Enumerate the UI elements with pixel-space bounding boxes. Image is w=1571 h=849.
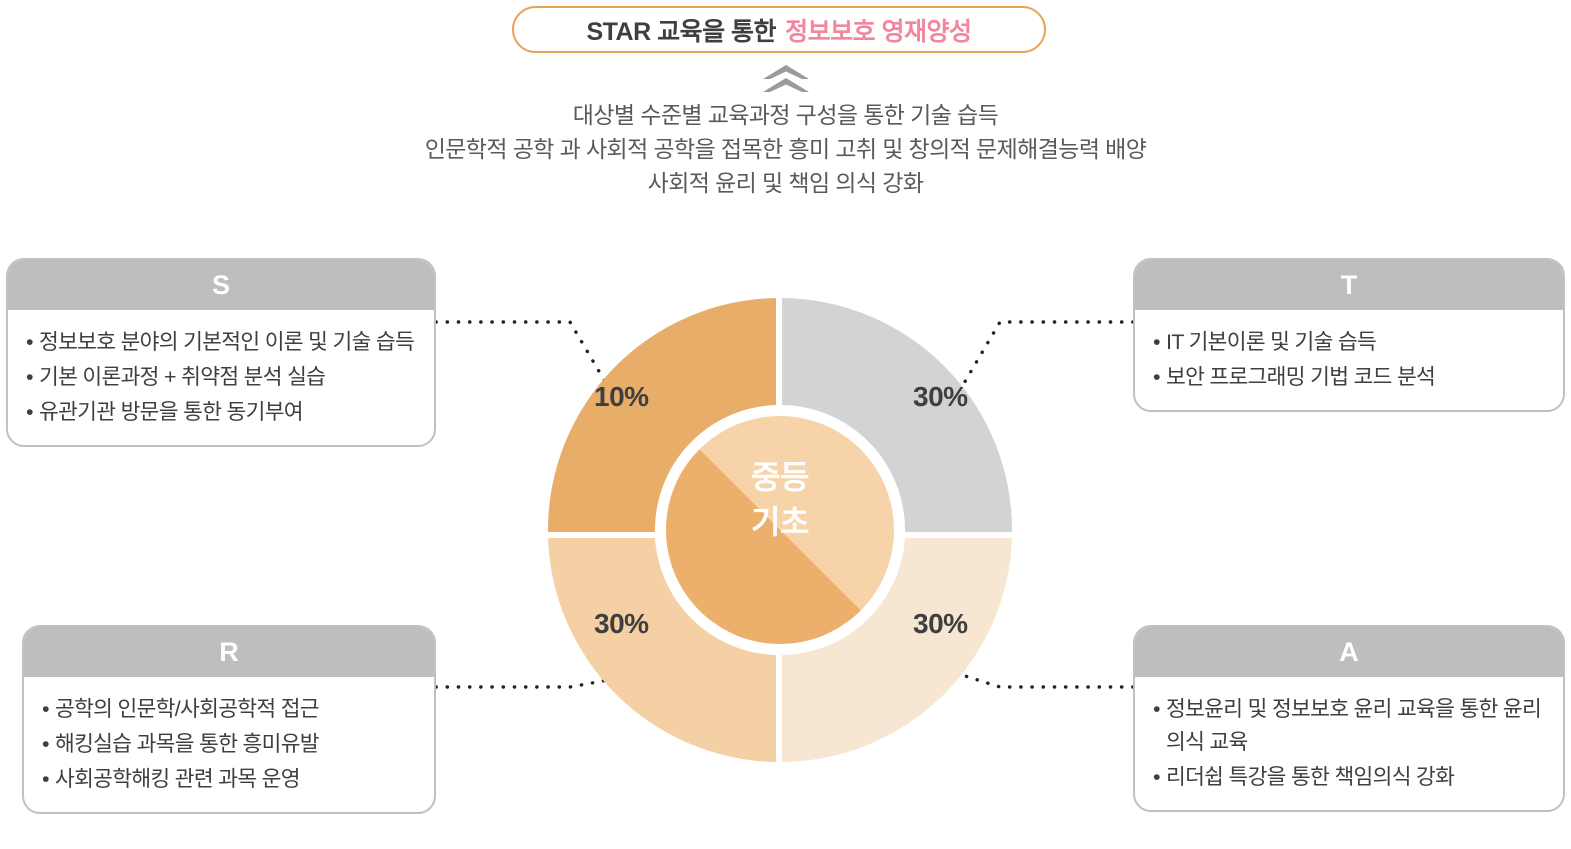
card-s-letter: S <box>212 270 230 301</box>
card-s[interactable]: S • 정보보호 분야의 기본적인 이론 및 기술 습득 • 기본 이론과정 +… <box>6 258 436 447</box>
bullet-icon: • <box>1153 761 1166 794</box>
subtitle-line-1: 대상별 수준별 교육과정 구성을 통한 기술 습득 <box>0 98 1571 132</box>
list-item: • IT 기본이론 및 기술 습득 <box>1153 326 1547 359</box>
list-item-text: IT 기본이론 및 기술 습득 <box>1166 326 1547 359</box>
list-item-text: 정보보호 분야의 기본적인 이론 및 기술 습득 <box>39 326 418 359</box>
card-r[interactable]: R • 공학의 인문학/사회공학적 접근 • 해킹실습 과목을 통한 흥미유발 … <box>22 625 436 814</box>
donut-label-s: 10% <box>594 381 649 413</box>
page-title-main: STAR 교육을 통한 <box>586 12 776 48</box>
double-chevron-up-icon <box>762 64 810 94</box>
card-r-header: R <box>24 627 434 677</box>
subtitle-line-3: 사회적 윤리 및 책임 의식 강화 <box>0 166 1571 200</box>
list-item-text: 유관기관 방문을 통한 동기부여 <box>39 396 418 429</box>
card-t-body: • IT 기본이론 및 기술 습득 • 보안 프로그래밍 기법 코드 분석 <box>1135 310 1563 410</box>
card-t-letter: T <box>1341 270 1358 301</box>
list-item-text: 기본 이론과정 + 취약점 분석 실습 <box>39 361 418 394</box>
bullet-icon: • <box>1153 693 1166 726</box>
bullet-icon: • <box>26 361 39 394</box>
bullet-icon: • <box>42 693 55 726</box>
list-item-text: 공학의 인문학/사회공학적 접근 <box>55 693 418 726</box>
bullet-icon: • <box>1153 361 1166 394</box>
card-a-body: • 정보윤리 및 정보보호 윤리 교육을 통한 윤리의식 교육 • 리더쉽 특강… <box>1135 677 1563 810</box>
donut-label-r: 30% <box>594 608 649 640</box>
card-a-header: A <box>1135 627 1563 677</box>
list-item: • 정보보호 분야의 기본적인 이론 및 기술 습득 <box>26 326 418 359</box>
bullet-icon: • <box>26 396 39 429</box>
list-item: • 해킹실습 과목을 통한 흥미유발 <box>42 728 418 761</box>
list-item-text: 리더쉽 특강을 통한 책임의식 강화 <box>1166 761 1547 794</box>
list-item: • 보안 프로그래밍 기법 코드 분석 <box>1153 361 1547 394</box>
subtitle-line-2: 인문학적 공학 과 사회적 공학을 접목한 흥미 고취 및 창의적 문제해결능력… <box>0 132 1571 166</box>
list-item: • 유관기관 방문을 통한 동기부여 <box>26 396 418 429</box>
bullet-icon: • <box>42 728 55 761</box>
list-item: • 공학의 인문학/사회공학적 접근 <box>42 693 418 726</box>
list-item-text: 정보윤리 및 정보보호 윤리 교육을 통한 윤리의식 교육 <box>1166 693 1547 759</box>
card-a-letter: A <box>1339 637 1359 668</box>
card-a[interactable]: A • 정보윤리 및 정보보호 윤리 교육을 통한 윤리의식 교육 • 리더쉽 … <box>1133 625 1565 812</box>
card-r-letter: R <box>219 637 239 668</box>
donut-center-disc <box>666 416 894 644</box>
donut-chart <box>520 270 1040 790</box>
bullet-icon: • <box>1153 326 1166 359</box>
donut-label-a: 30% <box>913 608 968 640</box>
bullet-icon: • <box>42 763 55 796</box>
card-s-header: S <box>8 260 434 310</box>
page-title-pill: STAR 교육을 통한 정보보호 영재양성 <box>512 6 1046 53</box>
chevron-container <box>0 64 1571 99</box>
list-item: • 리더쉽 특강을 통한 책임의식 강화 <box>1153 761 1547 794</box>
list-item: • 정보윤리 및 정보보호 윤리 교육을 통한 윤리의식 교육 <box>1153 693 1547 759</box>
list-item-text: 보안 프로그래밍 기법 코드 분석 <box>1166 361 1547 394</box>
card-s-body: • 정보보호 분야의 기본적인 이론 및 기술 습득 • 기본 이론과정 + 취… <box>8 310 434 445</box>
donut-label-t: 30% <box>913 381 968 413</box>
subtitle-block: 대상별 수준별 교육과정 구성을 통한 기술 습득 인문학적 공학 과 사회적 … <box>0 98 1571 200</box>
card-r-body: • 공학의 인문학/사회공학적 접근 • 해킹실습 과목을 통한 흥미유발 • … <box>24 677 434 812</box>
list-item-text: 사회공학해킹 관련 과목 운영 <box>55 763 418 796</box>
list-item: • 사회공학해킹 관련 과목 운영 <box>42 763 418 796</box>
list-item-text: 해킹실습 과목을 통한 흥미유발 <box>55 728 418 761</box>
bullet-icon: • <box>26 326 39 359</box>
list-item: • 기본 이론과정 + 취약점 분석 실습 <box>26 361 418 394</box>
card-t[interactable]: T • IT 기본이론 및 기술 습득 • 보안 프로그래밍 기법 코드 분석 <box>1133 258 1565 412</box>
page-title-accent: 정보보호 영재양성 <box>785 12 971 48</box>
card-t-header: T <box>1135 260 1563 310</box>
